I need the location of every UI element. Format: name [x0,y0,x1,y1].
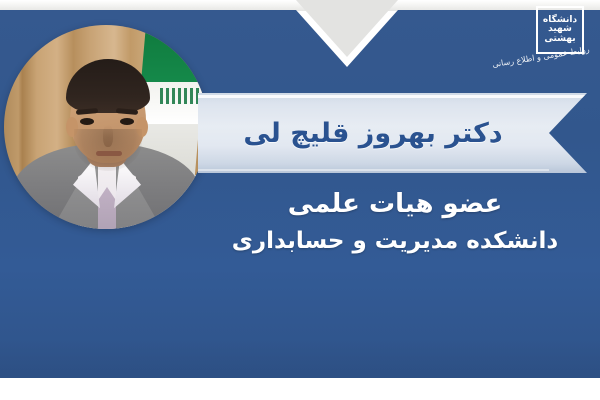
subtitle-block: عضو هیات علمی دانشکده مدیریت و حسابداری [200,186,590,258]
university-logo: دانشگاه شهید بهشتی روابط عمومی و اطلاع ر… [496,4,592,90]
person-name: دکتر بهروز قلیچ لی [198,93,548,173]
position-title: عضو هیات علمی [200,186,590,224]
mouth [96,151,122,156]
avatar [4,25,208,229]
portrait-image [4,25,208,229]
eye-right [120,118,134,125]
profile-card: دکتر بهروز قلیچ لی عضو هیات علمی دانشکده… [0,0,600,400]
panel-bottom-shading [0,340,600,388]
flag-kufic-band [160,88,200,104]
name-ribbon: دکتر بهروز قلیچ لی [198,93,587,173]
hair [66,59,150,113]
faculty-name: دانشکده مدیریت و حسابداری [200,224,590,259]
eye-left [80,118,94,125]
university-seal-text: دانشگاه شهید بهشتی [541,11,579,49]
